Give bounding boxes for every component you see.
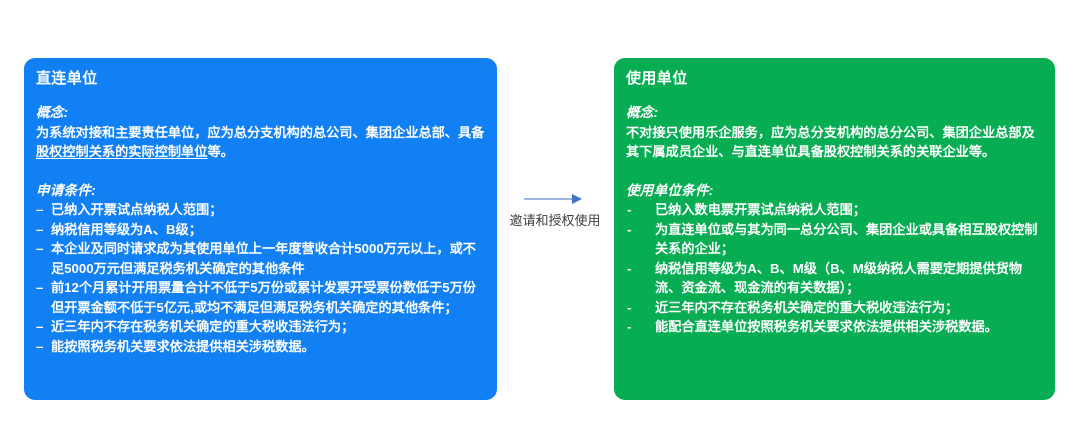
- list-item-text: 前12个月累计开用票量合计不低于5万份或累计发票开受票份数低于5万份但开票金额不…: [51, 280, 476, 315]
- list-item-text: 本企业及同时请求成为其使用单位上一年度营收合计5000万元以上，或不足5000万…: [51, 241, 476, 276]
- spacer: [36, 162, 487, 181]
- list-item-text: 纳税信用等级为A、B级；: [51, 222, 202, 237]
- list-item: –纳税信用等级为A、B级；: [36, 220, 487, 240]
- spacer: [626, 162, 1043, 181]
- concept-line-2a: 企业总部、具备: [392, 125, 484, 140]
- list-item: -为直连单位或与其为同一总分公司、集团企业或具备相互股权控制关系的企业；: [626, 220, 1043, 259]
- bullet-dash-icon: –: [36, 220, 43, 240]
- bullet-dash-icon: –: [36, 317, 43, 337]
- concept-heading-left: 概念:: [36, 103, 487, 123]
- bullet-dash-icon: –: [36, 239, 43, 259]
- bullet-dash-icon: –: [36, 278, 43, 298]
- card-title-right: 使用单位: [626, 71, 688, 86]
- bullet-dash-icon: -: [627, 220, 631, 240]
- concept-line-1: 为系统对接和主要责任单位，应为总分支机构的总公司、集团: [36, 125, 392, 140]
- concept-text-left: 为系统对接和主要责任单位，应为总分支机构的总公司、集团企业总部、具备股权控制关系…: [36, 123, 487, 162]
- list-item: –本企业及同时请求成为其使用单位上一年度营收合计5000万元以上，或不足5000…: [36, 239, 487, 278]
- list-item-text: 能配合直连单位按照税务机关要求依法提供相关涉税数据。: [655, 319, 998, 334]
- list-item-text: 纳税信用等级为A、B、M级（B、M级纳税人需要定期提供货物流、资金流、现金流的有…: [655, 261, 1022, 296]
- list-item-text: 近三年内不存在税务机关确定的重大税收违法行为；: [655, 300, 958, 315]
- card-direct-connect-unit: 直连单位 概念: 为系统对接和主要责任单位，应为总分支机构的总公司、集团企业总部…: [24, 58, 497, 400]
- concept-text-right: 不对接只使用乐企服务，应为总分支机构的总分公司、集团企业总部及其下属成员企业、与…: [626, 123, 1043, 162]
- card-title-left: 直连单位: [36, 71, 98, 86]
- card-body-left: 概念: 为系统对接和主要责任单位，应为总分支机构的总公司、集团企业总部、具备股权…: [36, 103, 487, 356]
- bullet-dash-icon: -: [627, 259, 631, 279]
- card-using-unit: 使用单位 概念: 不对接只使用乐企服务，应为总分支机构的总分公司、集团企业总部及…: [614, 58, 1055, 400]
- list-item-text: 为直连单位或与其为同一总分公司、集团企业或具备相互股权控制关系的企业；: [655, 222, 1037, 257]
- concept-line-2c: 等。: [207, 144, 233, 159]
- connector-label: 邀请和授权使用: [499, 212, 611, 230]
- conditions-list-right: -已纳入数电票开票试点纳税人范围； -为直连单位或与其为同一总分公司、集团企业或…: [626, 200, 1043, 337]
- conditions-heading-right: 使用单位条件:: [626, 181, 1043, 201]
- bullet-dash-icon: –: [36, 337, 43, 357]
- list-item: –前12个月累计开用票量合计不低于5万份或累计发票开受票份数低于5万份但开票金额…: [36, 278, 487, 317]
- connector-invite-authorize: 邀请和授权使用: [499, 185, 611, 235]
- bullet-dash-icon: -: [627, 200, 631, 220]
- list-item: –能按照税务机关要求依法提供相关涉税数据。: [36, 337, 487, 357]
- list-item: -近三年内不存在税务机关确定的重大税收违法行为；: [626, 298, 1043, 318]
- card-body-right: 概念: 不对接只使用乐企服务，应为总分支机构的总分公司、集团企业总部及其下属成员…: [626, 103, 1043, 337]
- list-item-text: 已纳入开票试点纳税人范围；: [51, 202, 222, 217]
- list-item: –已纳入开票试点纳税人范围；: [36, 200, 487, 220]
- conditions-list-left: –已纳入开票试点纳税人范围； –纳税信用等级为A、B级； –本企业及同时请求成为…: [36, 200, 487, 356]
- bullet-dash-icon: -: [627, 317, 631, 337]
- bullet-dash-icon: –: [36, 200, 43, 220]
- list-item: –近三年内不存在税务机关确定的重大税收违法行为；: [36, 317, 487, 337]
- bullet-dash-icon: -: [627, 298, 631, 318]
- concept-emphasis: 股权控制关系的实际控制单位: [36, 144, 207, 159]
- list-item: -已纳入数电票开票试点纳税人范围；: [626, 200, 1043, 220]
- list-item-text: 能按照税务机关要求依法提供相关涉税数据。: [51, 339, 315, 354]
- arrow-right-icon: [499, 185, 611, 209]
- list-item: -能配合直连单位按照税务机关要求依法提供相关涉税数据。: [626, 317, 1043, 337]
- list-item-text: 近三年内不存在税务机关确定的重大税收违法行为；: [51, 319, 354, 334]
- list-item-text: 已纳入数电票开票试点纳税人范围；: [655, 202, 866, 217]
- concept-heading-right: 概念:: [626, 103, 1043, 123]
- conditions-heading-left: 申请条件:: [36, 181, 487, 201]
- list-item: -纳税信用等级为A、B、M级（B、M级纳税人需要定期提供货物流、资金流、现金流的…: [626, 259, 1043, 298]
- diagram-canvas: 直连单位 概念: 为系统对接和主要责任单位，应为总分支机构的总公司、集团企业总部…: [0, 0, 1080, 423]
